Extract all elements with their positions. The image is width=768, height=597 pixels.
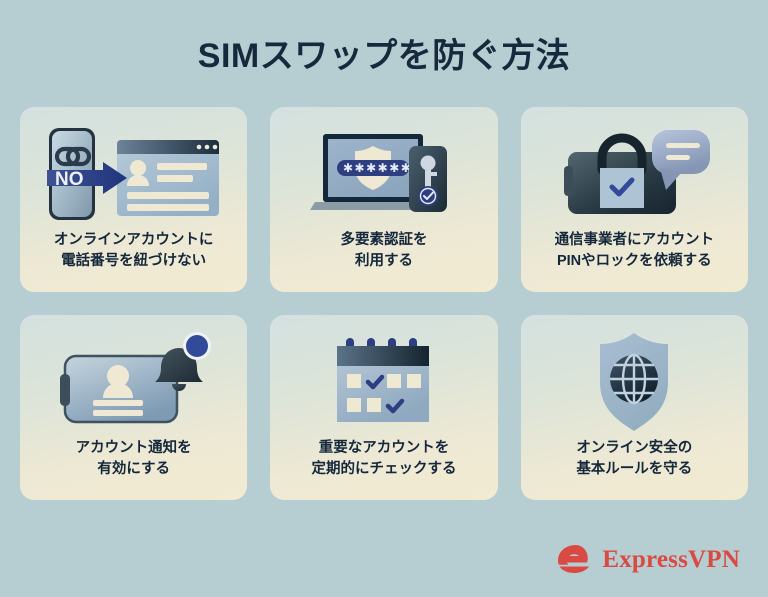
tip-card-online-safety-basics: オンライン安全の 基本ルールを守る (521, 315, 748, 500)
phone-no-arrow-browser-icon: NO (20, 121, 247, 226)
tip-card-review-accounts-regularly: 重要なアカウントを 定期的にチェックする (270, 315, 497, 500)
tip-card-label: オンラインアカウントに 電話番号を紐づけない (46, 230, 222, 272)
calendar-checkmarks-icon (270, 329, 497, 434)
password-mask-text: ✱✱✱✱✱✱ (343, 161, 412, 175)
id-card-bell-icon (20, 329, 247, 434)
tip-card-carrier-account-pin: 通信事業者にアカウント PINやロックを依頼する (521, 107, 748, 292)
tip-card-label: オンライン安全の 基本ルールを守る (568, 438, 700, 480)
locked-device-chat-bubble-icon (521, 121, 748, 226)
shield-globe-icon (521, 329, 748, 434)
laptop-password-shield-phone-key-icon: ✱✱✱✱✱✱ (270, 121, 497, 226)
page-title: SIMスワップを防ぐ方法 (0, 38, 768, 75)
tip-card-enable-account-alerts: アカウント通知を 有効にする (20, 315, 247, 500)
tip-card-label: 多要素認証を 利用する (332, 230, 435, 272)
tip-card-multi-factor-auth: ✱✱✱✱✱✱ 多要素認証を 利用する (270, 107, 497, 292)
expressvpn-e-logo-icon (553, 543, 593, 575)
infographic-page: SIMスワップを防ぐ方法 (0, 0, 768, 597)
brand-footer: ExpressVPN (553, 543, 740, 575)
tip-card-no-phone-number-link: NO オンラインアカウントに 電話番号を紐づけない (20, 107, 247, 292)
no-badge-text: NO (55, 169, 84, 190)
brand-name: ExpressVPN (602, 547, 740, 572)
tips-grid: NO オンラインアカウントに 電話番号を紐づけない (20, 107, 748, 500)
tip-card-label: アカウント通知を 有効にする (68, 438, 200, 480)
tip-card-label: 通信事業者にアカウント PINやロックを依頼する (547, 230, 723, 272)
tip-card-label: 重要なアカウントを 定期的にチェックする (303, 438, 464, 480)
